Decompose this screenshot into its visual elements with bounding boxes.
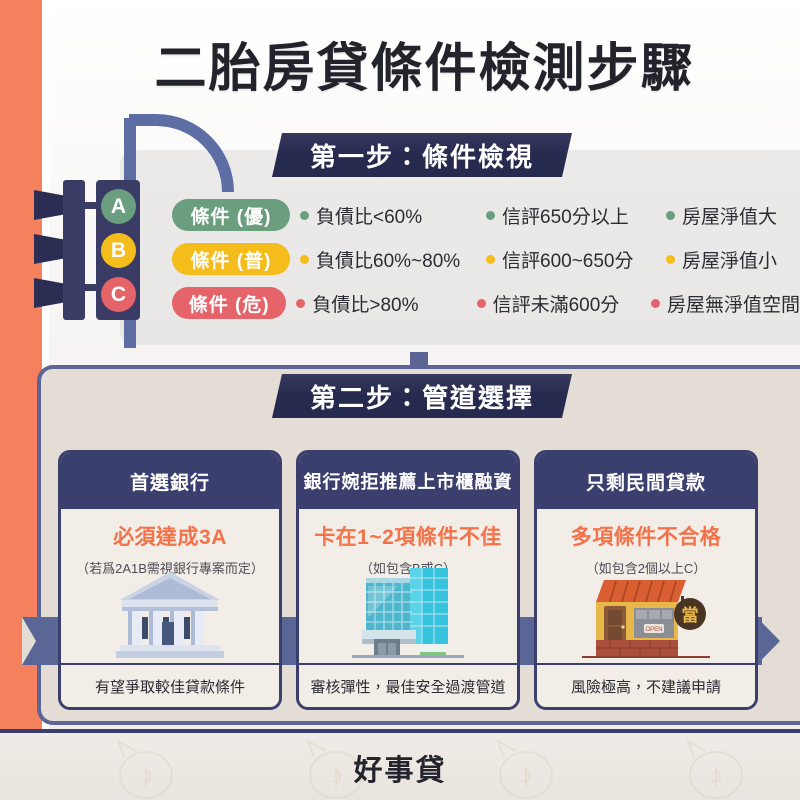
- step1-banner-label: 第一步：條件檢視: [310, 137, 534, 174]
- channel-card-private-lending[interactable]: 只剩民間貸款 多項條件不合格 （如包含2個以上C）: [534, 450, 758, 710]
- bullet-dot-icon: [296, 299, 305, 308]
- card-main-text: 多項條件不合格: [571, 521, 722, 551]
- traffic-light-arm: [129, 114, 234, 192]
- condition-text: 房屋淨值小: [682, 246, 777, 273]
- bullet-dot-icon: [477, 299, 486, 308]
- grade-pill-a: 條件 (優): [172, 199, 290, 231]
- condition-item: 房屋無淨值空間: [651, 290, 800, 317]
- grade-row: 條件 (普) 負債比60%~80% 信評600~650分 房屋淨值小: [172, 240, 800, 278]
- flow-arrow-tail: [22, 617, 36, 665]
- bullet-dot-icon: [486, 211, 495, 220]
- grade-pill-c: 條件 (危): [172, 287, 286, 319]
- step2-banner-label: 第二步：管道選擇: [310, 378, 534, 415]
- infographic-poster: 二胎房貸條件檢測步驟 A B C 第一步：條件檢視 條件 (優) 負債比<60%: [0, 0, 800, 800]
- condition-item: 負債比<60%: [300, 202, 486, 229]
- condition-item: 信評650分以上: [486, 202, 666, 229]
- condition-text: 房屋淨值大: [682, 202, 777, 229]
- channel-card-listed-company-financing[interactable]: 銀行婉拒推薦上市櫃融資 卡在1~2項條件不佳 （如包含B或C）: [296, 450, 520, 710]
- card-body: 多項條件不合格 （如包含2個以上C）: [537, 509, 755, 663]
- card-main-text: 卡在1~2項條件不佳: [314, 521, 502, 551]
- office-tower-icon: [352, 566, 464, 663]
- condition-item: 房屋淨值小: [666, 246, 777, 273]
- condition-text: 信評600~650分: [502, 246, 634, 273]
- grade-row: 條件 (危) 負債比>80% 信評未滿600分 房屋無淨值空間: [172, 284, 800, 322]
- bullet-dot-icon: [666, 255, 675, 264]
- condition-item: 房屋淨值大: [666, 202, 777, 229]
- traffic-light-lamp-b: B: [101, 233, 136, 268]
- condition-item: 負債比>80%: [296, 290, 476, 317]
- card-title: 首選銀行: [61, 453, 279, 509]
- traffic-light-icon: A B C: [30, 180, 180, 330]
- card-footer-text: 審核彈性，最佳安全過渡管道: [299, 663, 517, 707]
- condition-item: 負債比60%~80%: [300, 246, 486, 273]
- traffic-light-lamp-a: A: [101, 189, 136, 224]
- card-body: 卡在1~2項條件不佳 （如包含B或C）: [299, 509, 517, 663]
- condition-item: 信評600~650分: [486, 246, 666, 273]
- card-title: 只剩民間貸款: [537, 453, 755, 509]
- left-accent-stripe: [0, 0, 42, 800]
- step1-banner: 第一步：條件檢視: [272, 133, 572, 177]
- bullet-dot-icon: [300, 211, 309, 220]
- card-illustration: [299, 577, 517, 663]
- bullet-dot-icon: [666, 211, 675, 220]
- condition-text: 房屋無淨值空間: [667, 290, 800, 317]
- condition-text: 負債比<60%: [316, 202, 422, 229]
- card-title: 銀行婉拒推薦上市櫃融資: [299, 453, 517, 509]
- grade-pill-b: 條件 (普): [172, 243, 290, 275]
- card-illustration: OPEN 當: [537, 577, 755, 663]
- channel-card-list: 首選銀行 必須達成3A （若爲2A1B需視銀行專案而定）: [58, 450, 758, 710]
- traffic-light-frame: [63, 180, 85, 320]
- bank-building-icon: [116, 570, 224, 663]
- condition-text: 信評650分以上: [502, 202, 629, 229]
- traffic-light-lamp-c: C: [101, 277, 136, 312]
- svg-text:OPEN: OPEN: [645, 627, 662, 633]
- card-main-text: 必須達成3A: [113, 521, 227, 551]
- page-title: 二胎房貸條件檢測步驟: [49, 24, 800, 102]
- condition-text: 負債比>80%: [312, 290, 418, 317]
- grade-condition-table: 條件 (優) 負債比<60% 信評650分以上 房屋淨值大 條件 (普) 負債比…: [172, 196, 800, 328]
- card-illustration: [61, 577, 279, 663]
- channel-card-bank[interactable]: 首選銀行 必須達成3A （若爲2A1B需視銀行專案而定）: [58, 450, 282, 710]
- step2-banner: 第二步：管道選擇: [272, 374, 572, 418]
- condition-item: 信評未滿600分: [477, 290, 651, 317]
- bullet-dot-icon: [651, 299, 660, 308]
- bullet-dot-icon: [300, 255, 309, 264]
- condition-text: 負債比60%~80%: [316, 246, 460, 273]
- bullet-dot-icon: [486, 255, 495, 264]
- card-footer-text: 風險極高，不建議申請: [537, 663, 755, 707]
- grade-row: 條件 (優) 負債比<60% 信評650分以上 房屋淨值大: [172, 196, 800, 234]
- condition-text: 信評未滿600分: [493, 290, 620, 317]
- card-body: 必須達成3A （若爲2A1B需視銀行專案而定）: [61, 509, 279, 663]
- brand-logo: 好事貸: [0, 747, 800, 789]
- svg-text:當: 當: [682, 605, 699, 625]
- pawnshop-icon: OPEN 當: [582, 572, 710, 663]
- footer-bar: 好事貸: [0, 729, 800, 800]
- card-footer-text: 有望爭取較佳貸款條件: [61, 663, 279, 707]
